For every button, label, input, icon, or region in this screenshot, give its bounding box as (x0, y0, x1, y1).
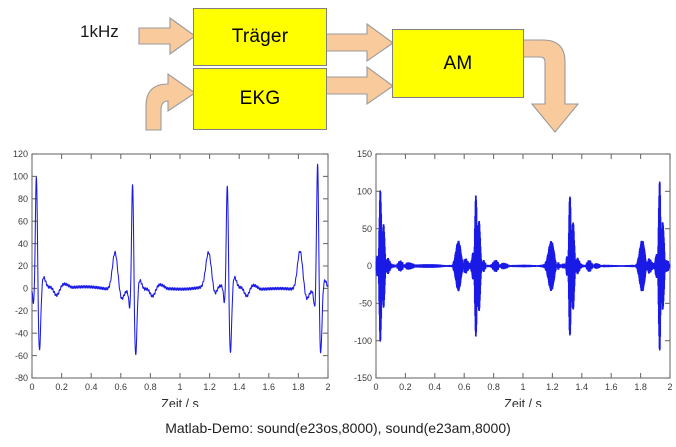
x-tick-label: 0.8 (144, 382, 157, 392)
x-tick-label: 0.2 (55, 382, 68, 392)
y-tick-label: 100 (13, 172, 28, 182)
block-am[interactable]: AM (392, 29, 524, 98)
block-traeger[interactable]: Träger (193, 8, 327, 66)
arrow-input-to-traeger (139, 18, 195, 54)
block-traeger-label: Träger (232, 26, 288, 48)
y-tick-label: -20 (15, 306, 28, 316)
x-tick-label: 0.4 (429, 382, 442, 392)
x-tick-label: 0 (29, 382, 34, 392)
ecg-trace (32, 164, 328, 354)
x-axis-title: Zeit / s (161, 397, 199, 407)
x-tick-label: 0.4 (85, 382, 98, 392)
y-tick-label: -150 (354, 373, 372, 383)
chart-ecg-original: 00.20.40.60.811.21.41.61.821201008060402… (0, 145, 340, 407)
y-tick-label: 0 (23, 284, 28, 294)
x-tick-label: 1.4 (576, 382, 589, 392)
y-tick-label: -50 (359, 299, 372, 309)
y-tick-label: -60 (15, 351, 28, 361)
y-tick-label: 80 (18, 194, 28, 204)
y-tick-label: 150 (357, 149, 372, 159)
y-tick-label: -40 (15, 328, 28, 338)
x-tick-label: 1 (520, 382, 525, 392)
x-tick-label: 1.8 (292, 382, 305, 392)
x-tick-label: 0.2 (399, 382, 412, 392)
y-tick-label: 60 (18, 216, 28, 226)
caption-matlab-demo: Matlab-Demo: sound(e23os,8000), sound(e2… (0, 420, 676, 436)
x-tick-label: 2 (667, 382, 672, 392)
y-tick-label: 0 (367, 261, 372, 271)
x-tick-label: 1.2 (546, 382, 559, 392)
y-tick-label: 120 (13, 149, 28, 159)
y-tick-label: 50 (362, 224, 372, 234)
x-tick-label: 0.8 (487, 382, 500, 392)
plot-frame (32, 154, 328, 378)
x-tick-label: 1.2 (203, 382, 216, 392)
arrow-feedback-to-ekg (146, 74, 195, 130)
y-tick-label: 20 (18, 261, 28, 271)
x-tick-label: 0.6 (458, 382, 471, 392)
am-trace (376, 182, 670, 351)
input-frequency-label: 1kHz (80, 22, 119, 42)
x-axis-title: Zeit / s (504, 397, 542, 407)
arrow-traeger-to-am (325, 24, 393, 61)
y-tick-label: 100 (357, 187, 372, 197)
x-tick-label: 0.6 (115, 382, 128, 392)
block-ekg-label: EKG (240, 88, 281, 110)
x-tick-label: 2 (325, 382, 330, 392)
y-tick-label: -100 (354, 336, 372, 346)
block-ekg[interactable]: EKG (193, 68, 327, 130)
x-tick-label: 1.4 (233, 382, 246, 392)
arrow-am-output (522, 40, 578, 132)
arrow-ekg-to-am (325, 67, 393, 104)
slide-root: 1kHz Träger EKG AM 00.20.40.60.811.21.41… (0, 0, 676, 447)
x-tick-label: 1.6 (605, 382, 618, 392)
block-diagram: 1kHz Träger EKG AM (0, 0, 676, 145)
chart-ecg-am: 00.20.40.60.811.21.41.61.82150100500-50-… (340, 145, 676, 407)
x-tick-label: 1.8 (634, 382, 647, 392)
y-tick-label: -80 (15, 373, 28, 383)
x-tick-label: 0 (373, 382, 378, 392)
x-tick-label: 1.6 (263, 382, 276, 392)
block-am-label: AM (444, 53, 473, 75)
x-tick-label: 1 (177, 382, 182, 392)
y-tick-label: 40 (18, 239, 28, 249)
